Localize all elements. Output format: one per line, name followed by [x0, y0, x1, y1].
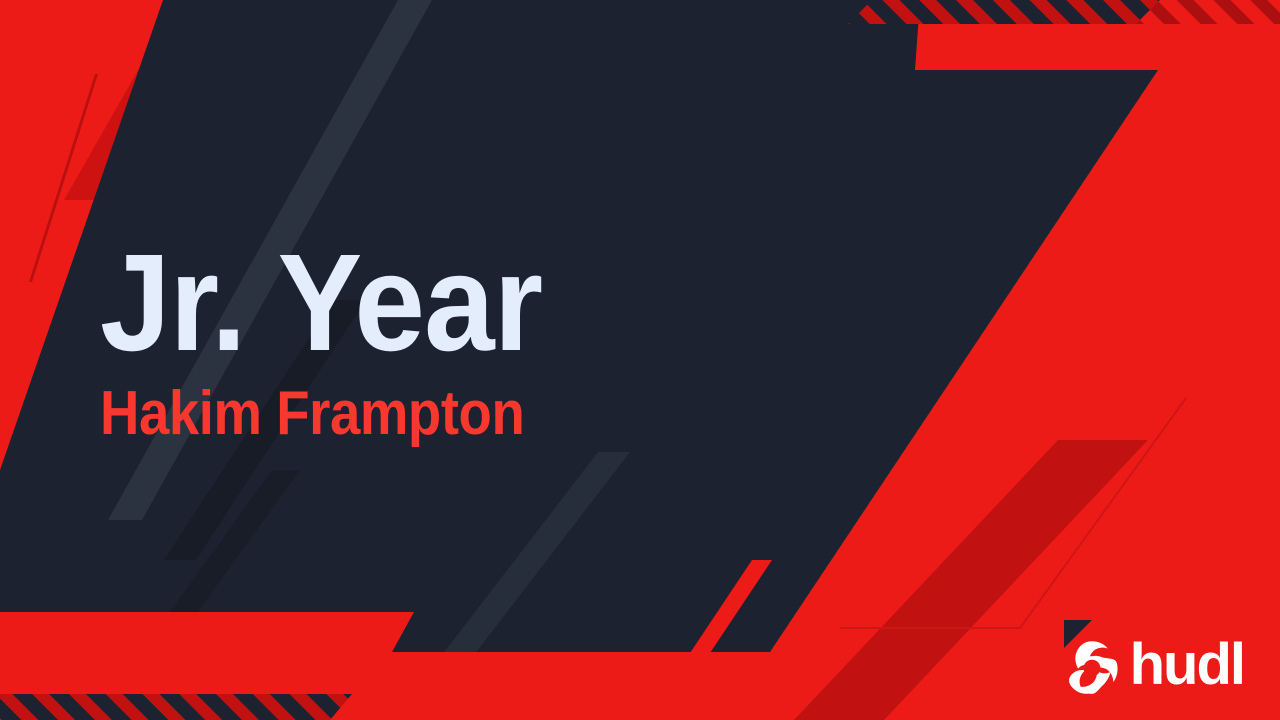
- red-hairline: [29, 74, 98, 282]
- athlete-name: Hakim Frampton: [100, 383, 524, 445]
- streak-light-2: [392, 452, 630, 720]
- red-thin-outline: [840, 398, 1186, 628]
- hatch-top-navy: [848, 0, 1160, 24]
- highlight-title-card: Jr. Year Hakim Frampton hudl: [0, 0, 1280, 720]
- hatch-bottom-navy: [0, 694, 352, 720]
- hudl-pinwheel-icon: [1064, 639, 1120, 695]
- hatch-top-red: [1136, 0, 1280, 24]
- deep-red-wedge: [64, 0, 300, 200]
- text-block: Jr. Year Hakim Frampton: [100, 238, 582, 445]
- accent-red-slash: [680, 560, 772, 668]
- streak-dark-2: [92, 470, 300, 720]
- hudl-logo[interactable]: hudl: [1064, 638, 1244, 696]
- pinwheel-center: [1083, 660, 1100, 677]
- brand-wordmark: hudl: [1130, 636, 1244, 694]
- page-title: Jr. Year: [100, 238, 544, 369]
